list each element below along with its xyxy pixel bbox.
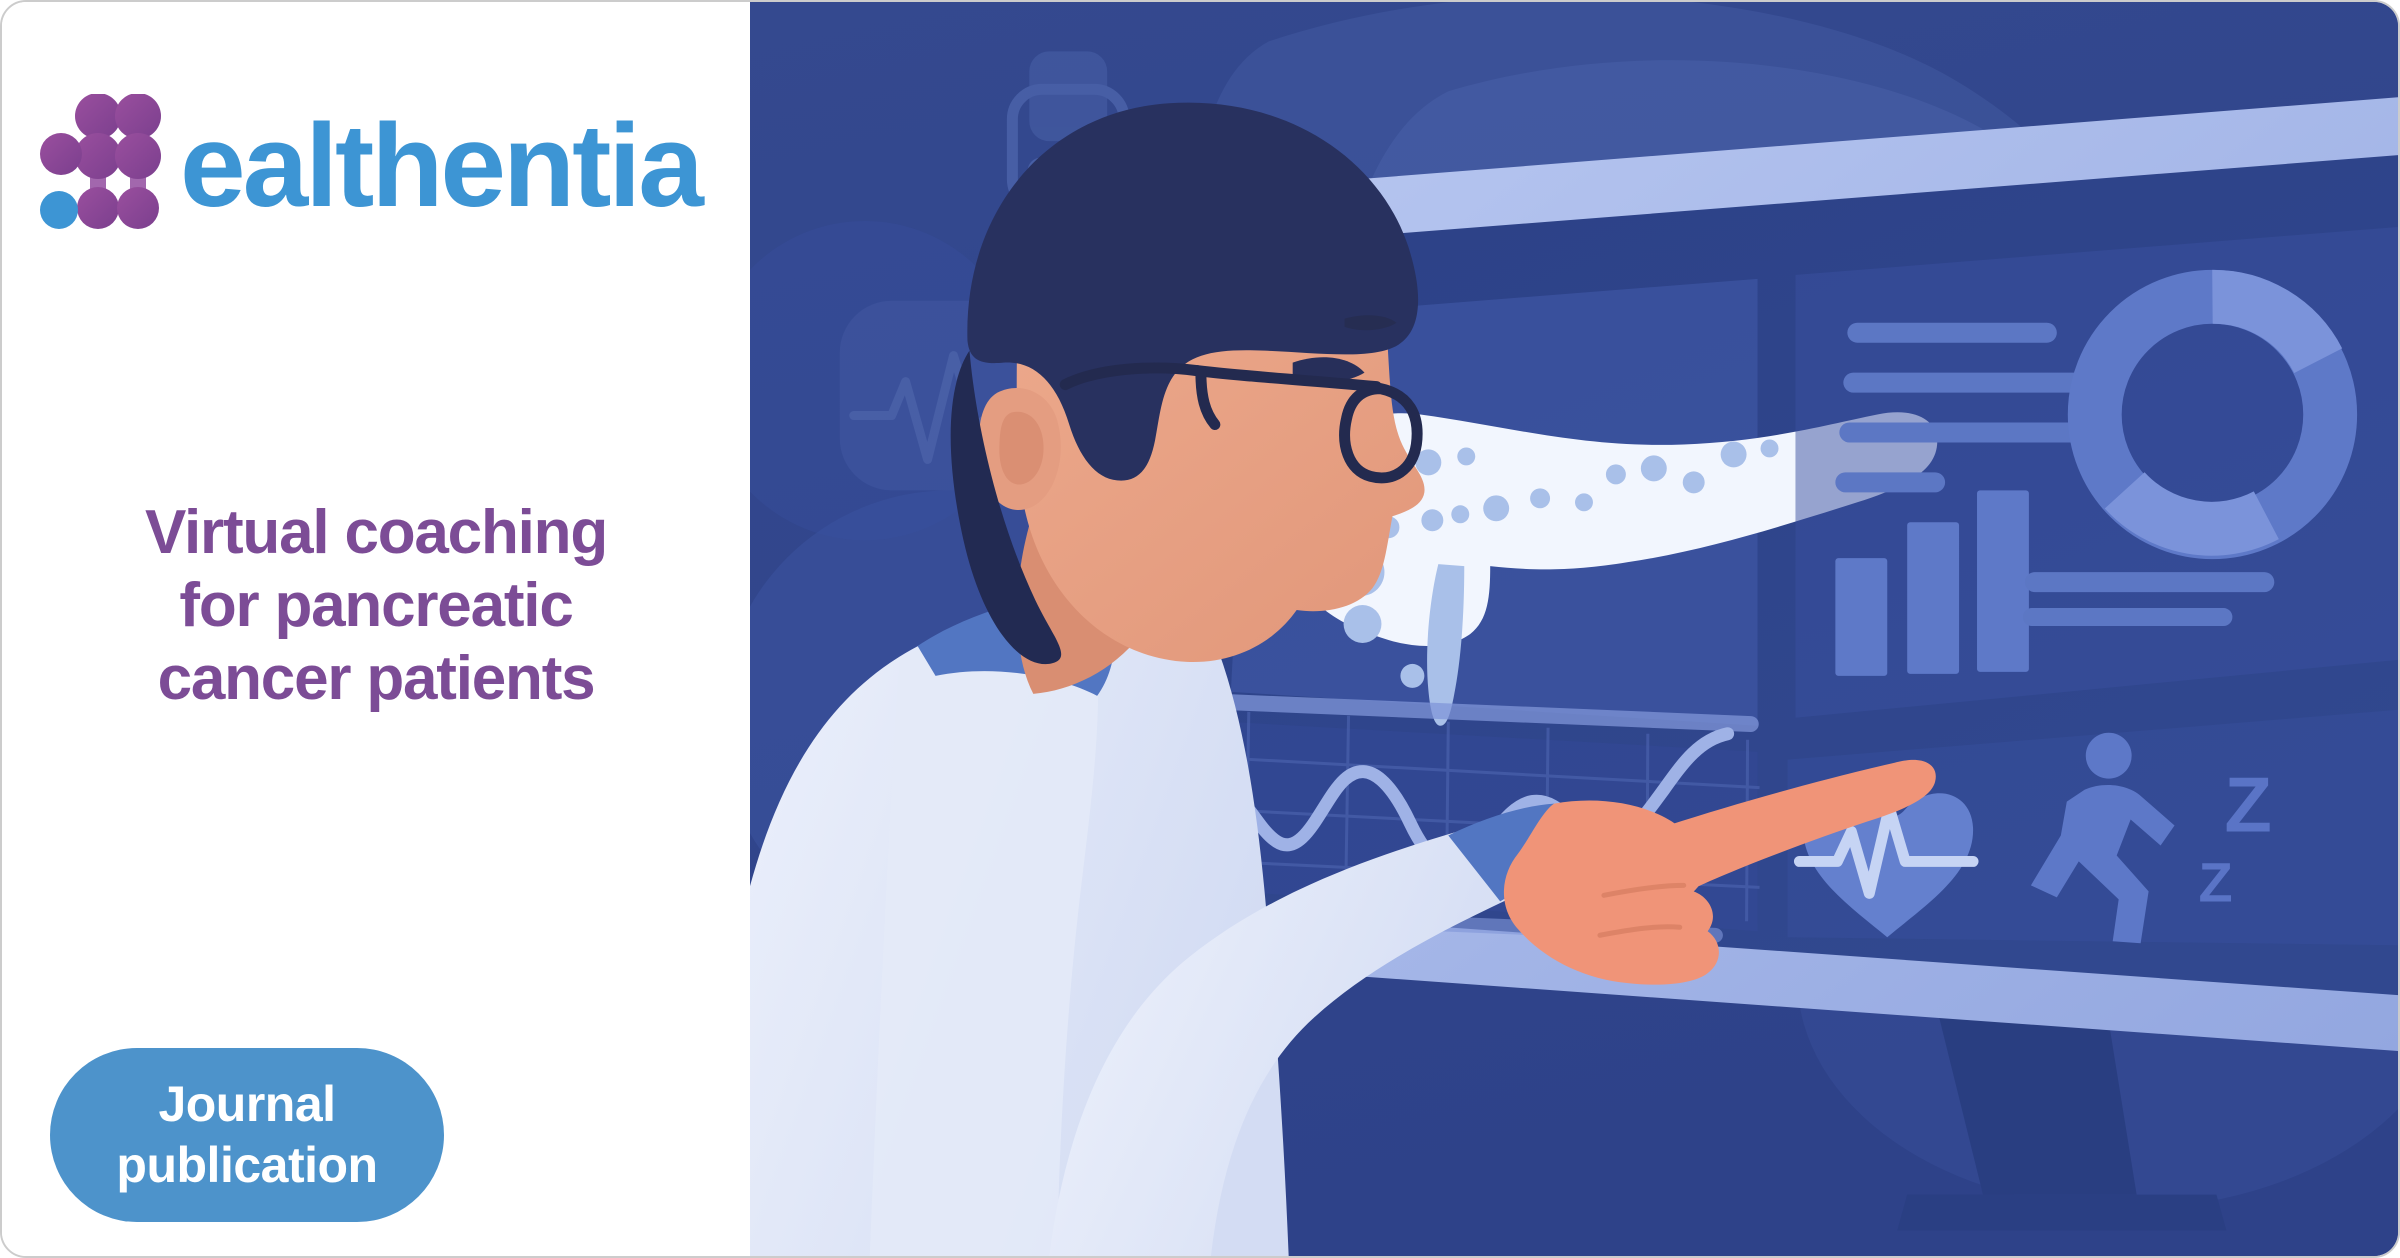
headline-line-3: cancer patients — [46, 642, 706, 715]
healthentia-logo[interactable]: ealthentia — [36, 94, 701, 232]
promo-card: ealthentia Virtual coaching for pancreat… — [0, 0, 2400, 1258]
page-title: Virtual coaching for pancreatic cancer p… — [2, 496, 750, 715]
healthentia-molecule-h-logo-icon — [36, 94, 186, 232]
left-content-panel: ealthentia Virtual coaching for pancreat… — [2, 2, 750, 1256]
headline-line-2: for pancreatic — [46, 569, 706, 642]
badge-line-1: Journal — [158, 1074, 335, 1135]
badge-line-2: publication — [116, 1135, 377, 1196]
status-badge[interactable]: Journal publication — [50, 1048, 444, 1222]
doctor-dashboard-illustration: Z Z — [750, 2, 2398, 1256]
logo-wordmark: ealthentia — [180, 107, 701, 225]
stats-card[interactable] — [1795, 227, 2398, 718]
headline-line-1: Virtual coaching — [46, 496, 706, 569]
svg-text:Z: Z — [2224, 763, 2272, 849]
illustration-panel: Z Z — [750, 2, 2398, 1256]
svg-text:Z: Z — [2198, 850, 2232, 913]
